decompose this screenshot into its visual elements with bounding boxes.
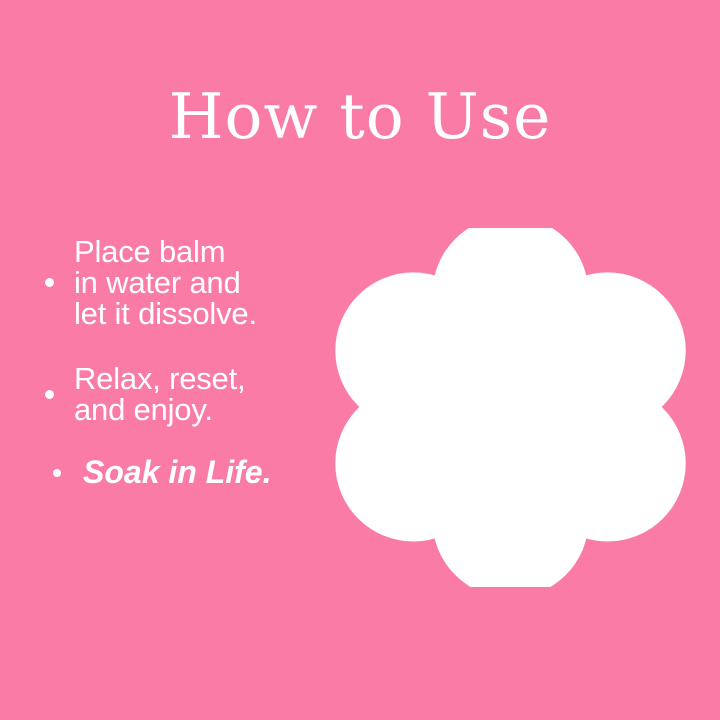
flower-framed-bath-bomb-photo	[331, 228, 690, 587]
step-text: Relax, reset, and enjoy.	[74, 363, 245, 425]
step-text: Place balm in water and let it dissolve.	[74, 236, 257, 329]
how-to-use-poster: How to Use Place balm in water and let i…	[0, 0, 720, 720]
list-item-step-2: Relax, reset, and enjoy.	[34, 363, 334, 425]
step-tagline-text: Soak in Life.	[83, 457, 271, 488]
list-item-step-3: Soak in Life.	[34, 457, 334, 488]
page-title: How to Use	[0, 84, 720, 150]
bullet-dot-icon	[53, 469, 61, 477]
flower-white-border	[335, 228, 685, 587]
bullet-dot-icon	[45, 278, 54, 287]
steps-list: Place balm in water and let it dissolve.…	[34, 236, 334, 488]
list-item-step-1: Place balm in water and let it dissolve.	[34, 236, 334, 329]
bullet-dot-icon	[45, 390, 54, 399]
